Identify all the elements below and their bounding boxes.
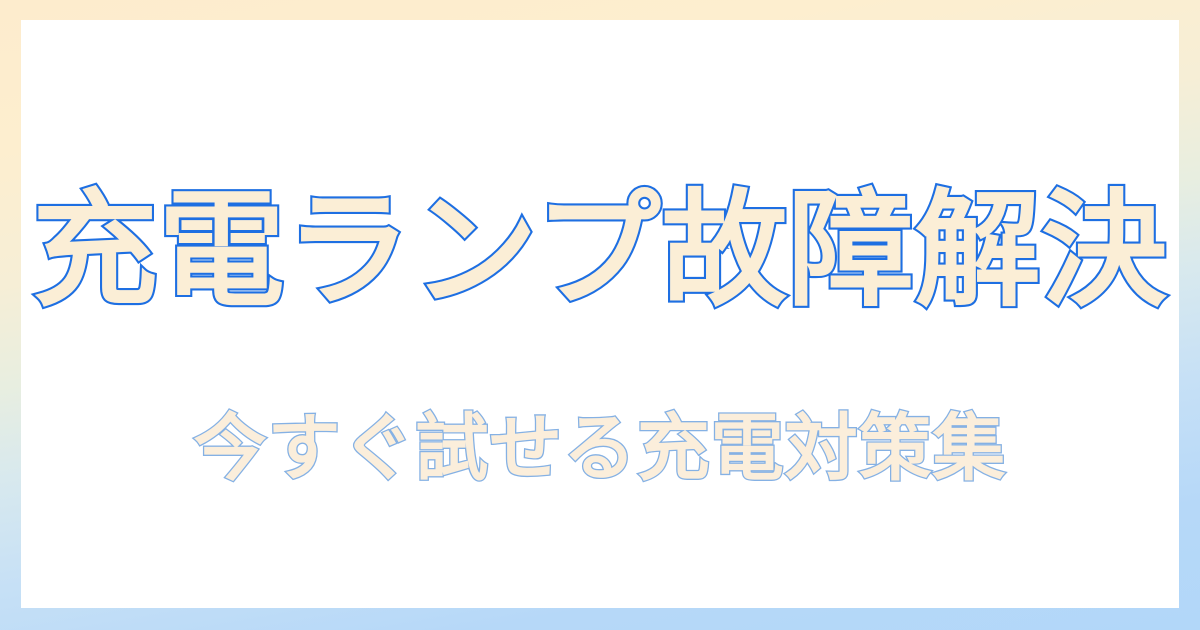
poster-headline: 充電ランプ故障解決 <box>21 188 1179 314</box>
poster-subheadline: 今すぐ試せる充電対策集 <box>21 412 1179 485</box>
poster-text-block: 充電ランプ故障解決 今すぐ試せる充電対策集 <box>21 20 1179 608</box>
poster-canvas: 充電ランプ故障解決 今すぐ試せる充電対策集 <box>0 0 1200 630</box>
poster-white-card: 充電ランプ故障解決 今すぐ試せる充電対策集 <box>21 20 1179 608</box>
